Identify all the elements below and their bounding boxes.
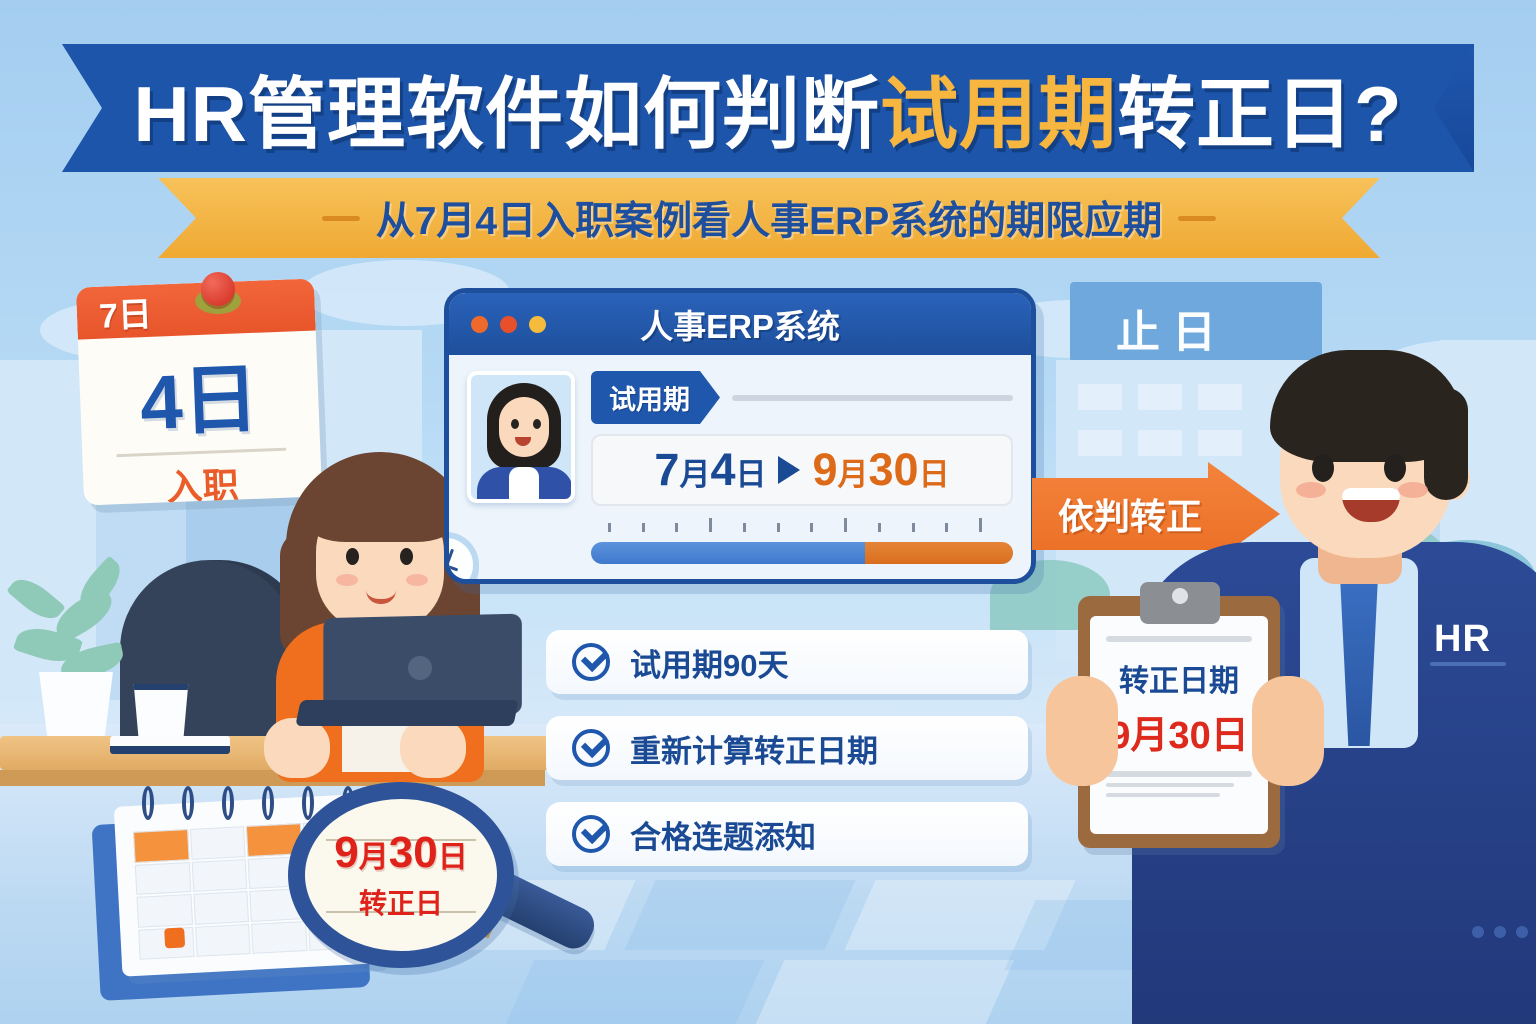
spiral-binding [262,786,274,820]
photo-eye [533,419,541,429]
page-title: HR管理软件如何判断试用期转正日? [133,52,1402,164]
teeth-shape [1342,488,1400,500]
paper-rule [1106,783,1234,787]
mag-day-unit: 日 [438,841,468,874]
cheek-blush [1296,482,1326,498]
laptop-logo [408,656,432,680]
hair-bangs [310,482,452,542]
title-text-pre: HR管理软件如何判断 [133,70,880,158]
cheek-blush [336,574,358,586]
photo-eye [511,419,519,429]
dash-decoration [322,216,360,221]
spiral-binding [302,786,314,820]
eyebrow-shape [1376,434,1418,444]
calendar-cell [136,894,192,927]
title-banner: HR管理软件如何判断试用期转正日? [62,44,1474,172]
photo-face [499,397,549,457]
arm-shape [400,718,466,778]
start-day-unit: 日 [735,457,766,492]
spiral-binding [182,786,194,820]
floor-tile [624,880,855,950]
infographic-canvas: 止日 HR管理软件如何判断试用期转正日? 从7月4日入职案例看人事ERP系统的期… [0,0,1536,1024]
pushpin-icon [195,272,241,318]
paper-rule [1106,636,1252,642]
checklist-item-2[interactable]: 重新计算转正日期 [546,716,1028,780]
clipboard-title: 转正日期 [1106,656,1252,700]
clock-icon [444,532,479,584]
probation-end-date: 9月30日 [812,444,949,496]
spiral-binding [142,786,154,820]
end-month-num: 9 [812,444,837,495]
title-text-post: 转正日? [1117,70,1403,158]
magnifier-label: 转正日 [359,882,443,922]
checklist-label: 合格连题添知 [630,812,816,857]
cheek-blush [1398,482,1428,498]
end-day-unit: 日 [919,457,950,492]
eyebrow-shape [1304,434,1346,444]
start-month-num: 7 [654,444,679,495]
subtitle-banner: 从7月4日入职案例看人事ERP系统的期限应期 [158,178,1380,258]
plant-pot [34,672,118,738]
probation-progress-bar[interactable] [591,542,1013,564]
mag-month-unit: 月 [359,841,389,874]
calendar-cell [191,859,247,892]
hair-side [1424,388,1468,500]
photo-shirt [509,467,539,503]
erp-detail-panel: 试用期 7月4日 9月30日 [591,371,1013,568]
date-range-row: 7月4日 9月30日 [591,434,1013,506]
magnifier-lens: 9月30日 转正日 [288,782,514,968]
floor-tile [756,960,1014,1024]
right-hand [1252,676,1324,786]
erp-window-titlebar: 人事ERP系统 [449,293,1031,355]
clipboard-date: 9月30日 [1106,704,1252,759]
erp-window-body: 试用期 7月4日 9月30日 [449,355,1031,584]
tag-divider-line [732,395,1013,401]
coffee-cup [130,684,192,740]
calendar-month-label: 7日 [98,286,153,337]
checklist-label: 重新计算转正日期 [630,726,878,771]
start-month-unit: 月 [679,457,710,492]
check-circle-icon [572,729,610,767]
check-circle-icon [572,815,610,853]
eye-shape [1384,454,1406,482]
window-pane [1078,430,1122,456]
timeline-ticks [591,518,1013,532]
end-day-num: 30 [869,444,919,495]
clipboard-clamp-hole [1172,588,1188,604]
end-month-unit: 月 [838,457,869,492]
hr-badge-underline [1430,662,1506,666]
eye-shape [1312,454,1334,482]
title-text-highlight: 试用期 [880,70,1117,158]
calendar-cell [189,826,245,859]
suit-buttons [1472,926,1528,938]
mag-day-num: 30 [389,828,438,877]
eye-shape [346,548,359,565]
checklist-item-1[interactable]: 试用期90天 [546,630,1028,694]
paper-rule [1106,771,1252,777]
employee-photo [467,371,575,503]
check-circle-icon [572,643,610,681]
eye-shape [400,548,413,565]
arrow-right-icon [778,456,800,484]
notebook [110,736,230,754]
floor-tile [506,960,764,1024]
laptop-base [295,700,519,726]
subtitle-text: 从7月4日入职案例看人事ERP系统的期限应期 [376,190,1163,246]
hr-badge-text: HR [1434,618,1491,661]
probation-tag: 试用期 [591,371,720,424]
spiral-binding [222,786,234,820]
erp-window-title: 人事ERP系统 [449,300,1031,348]
start-day-num: 4 [710,444,735,495]
mag-month-num: 9 [334,828,358,877]
calendar-cell [193,891,249,924]
calendar-cell [133,829,189,862]
checklist-label: 试用期90天 [630,640,788,685]
calendar-marked-day [164,927,185,948]
calendar-day-number: 4日 [78,334,320,453]
window-pane [1078,384,1122,410]
page-subtitle: 从7月4日入职案例看人事ERP系统的期限应期 [322,190,1217,246]
paper-rule [1106,793,1220,797]
magnifier-date: 9月30日 [334,828,467,878]
calendar-cell [195,923,251,956]
pushpin-head [201,272,235,306]
progress-elapsed [591,542,865,564]
dash-decoration [1178,216,1216,221]
calendar-cell [251,921,307,954]
progress-remaining [865,542,1013,564]
cheek-blush [406,574,428,586]
checklist-item-3[interactable]: 合格连题添知 [546,802,1028,866]
erp-system-window[interactable]: 人事ERP系统 试用期 7月4日 9月30日 [444,288,1036,584]
arm-shape [264,718,330,778]
probation-tag-row: 试用期 [591,371,1013,424]
left-hand [1046,676,1118,786]
calendar-cell [135,862,191,895]
probation-start-date: 7月4日 [654,444,766,496]
